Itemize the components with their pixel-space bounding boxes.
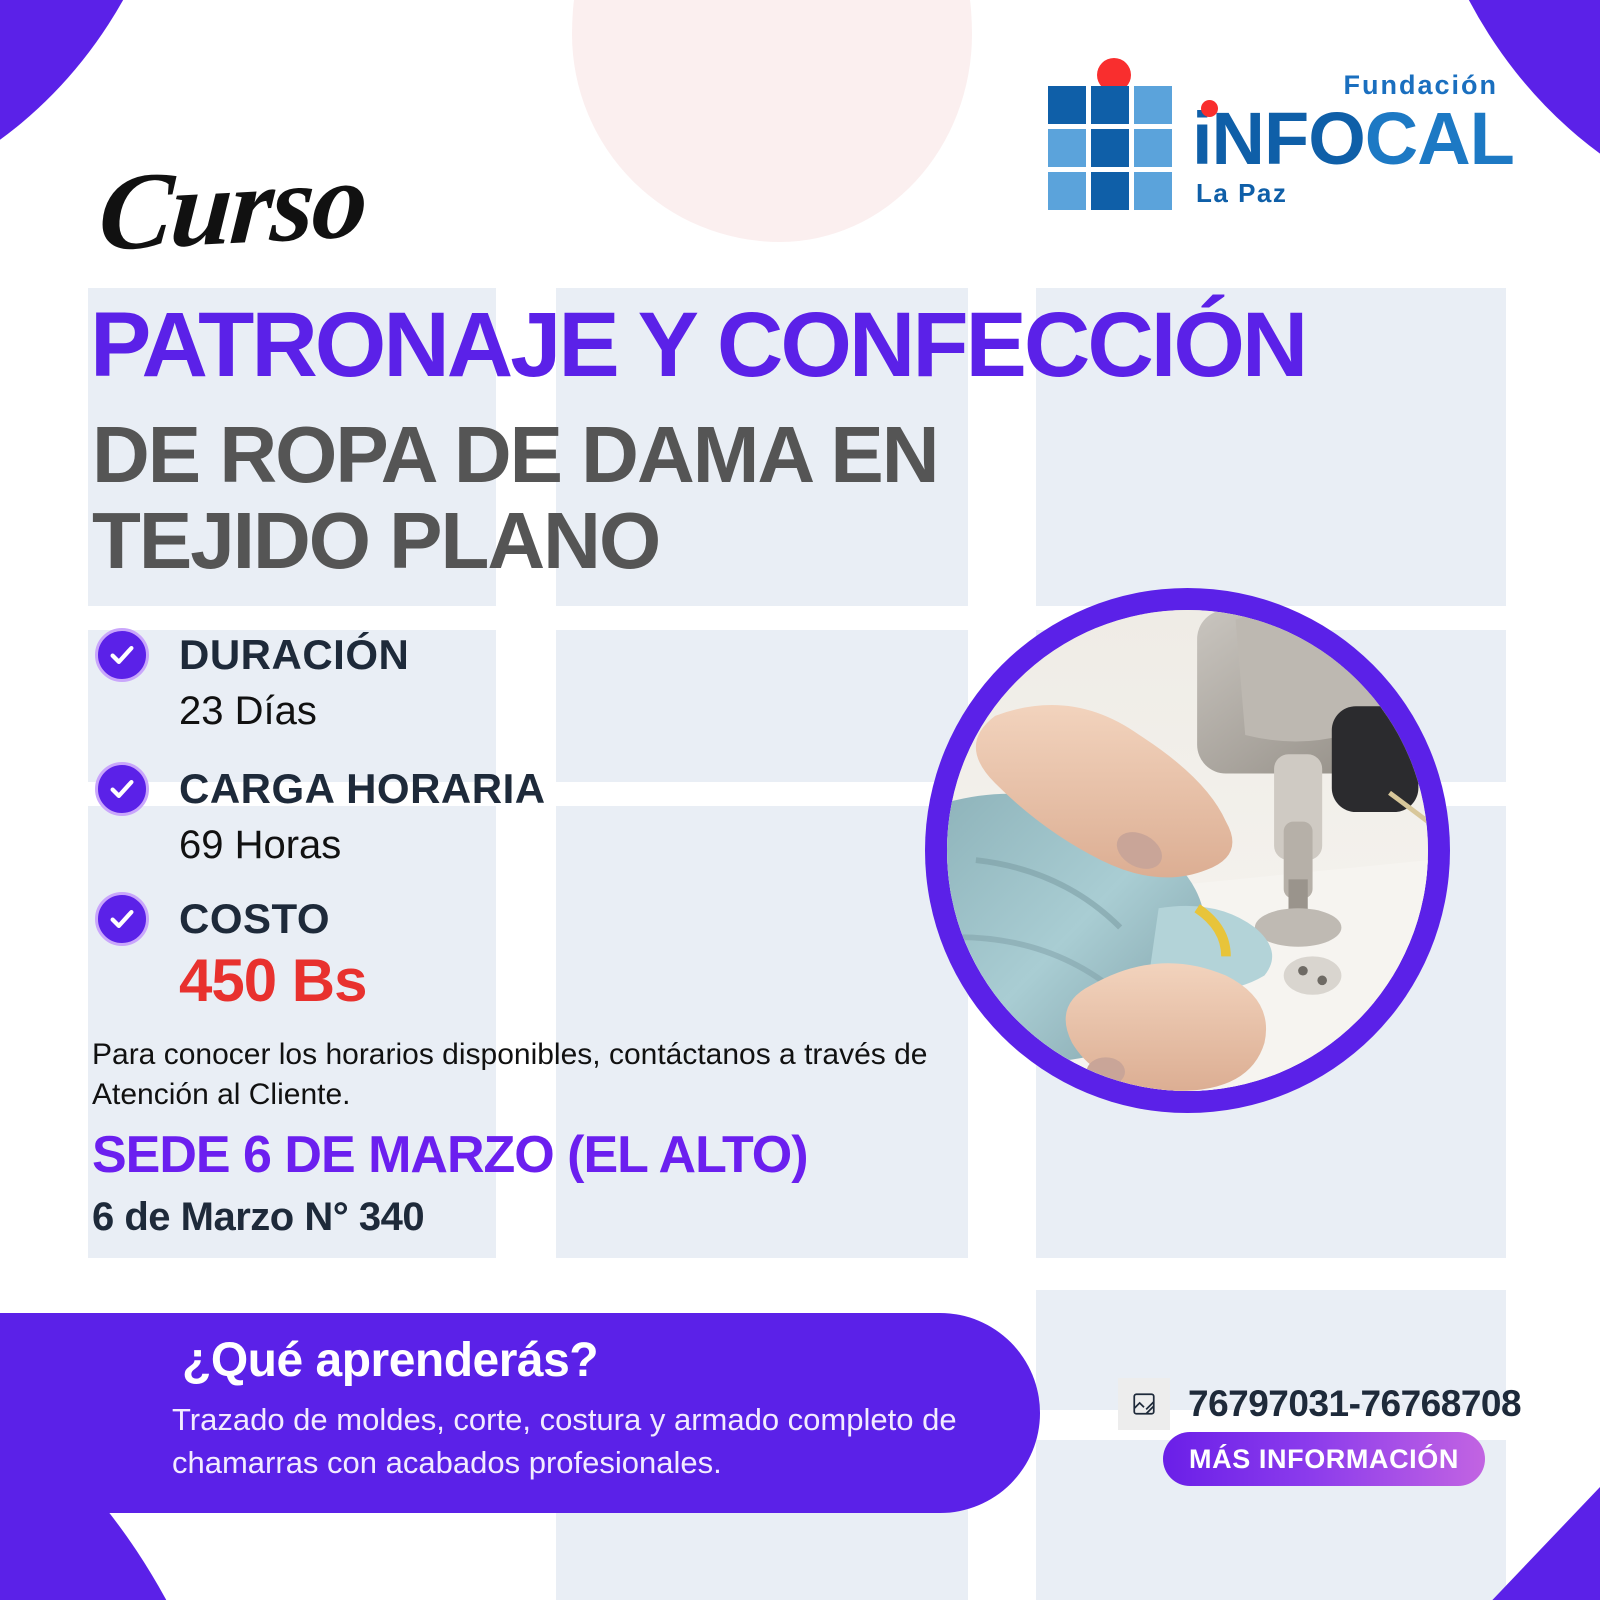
check-circle-icon (95, 762, 149, 816)
flyer-content: Fundación iNFOCAL La Paz Curso PATRONAJE… (0, 0, 1600, 1600)
course-photo (947, 610, 1428, 1091)
more-info-button[interactable]: MÁS INFORMACIÓN (1163, 1432, 1485, 1486)
course-photo-ring (925, 588, 1450, 1113)
eyebrow-curso: Curso (95, 136, 370, 277)
broken-image-icon (1118, 1378, 1170, 1430)
detail-row-duracion: DURACIÓN 23 Días (95, 628, 935, 736)
sede-address: 6 de Marzo N° 340 (92, 1195, 424, 1240)
detail-row-carga-horaria: CARGA HORARIA 69 Horas (95, 762, 935, 870)
logo-wordmark-part2: CAL (1365, 97, 1514, 180)
detail-label: DURACIÓN (179, 628, 935, 682)
learn-heading: ¿Qué aprenderás? (182, 1333, 598, 1388)
logo-grid-icon (1048, 86, 1172, 210)
more-info-label: MÁS INFORMACIÓN (1189, 1444, 1459, 1475)
schedule-note: Para conocer los horarios disponibles, c… (92, 1035, 952, 1114)
flyer-canvas: Fundación iNFOCAL La Paz Curso PATRONAJE… (0, 0, 1600, 1600)
check-circle-icon (95, 628, 149, 682)
detail-row-costo: COSTO 450 Bs (95, 892, 935, 1014)
detail-value: 23 Días (179, 686, 935, 736)
price-value: 450 Bs (179, 948, 935, 1014)
check-circle-icon (95, 892, 149, 946)
sede-name: SEDE 6 DE MARZO (EL ALTO) (92, 1125, 808, 1185)
course-details-list: DURACIÓN 23 Días CARGA HORARIA 69 Horas … (95, 628, 935, 1020)
page-title: PATRONAJE Y CONFECCIÓN (90, 300, 1510, 390)
detail-label: COSTO (179, 892, 935, 946)
learn-body: Trazado de moldes, corte, costura y arma… (172, 1398, 1032, 1485)
detail-value: 69 Horas (179, 820, 935, 870)
infocal-logo: Fundación iNFOCAL La Paz (1040, 58, 1500, 238)
page-subtitle: DE ROPA DE DAMA EN TEJIDO PLANO (92, 412, 1042, 585)
phone-number[interactable]: 76797031-76768708 (1188, 1383, 1521, 1425)
detail-label: CARGA HORARIA (179, 762, 935, 816)
contact-phone-row[interactable]: 76797031-76768708 (1118, 1378, 1521, 1430)
logo-wordmark: iNFOCAL (1192, 102, 1514, 176)
logo-lapaz-text: La Paz (1196, 178, 1287, 209)
logo-i-dot-icon (1201, 100, 1218, 117)
